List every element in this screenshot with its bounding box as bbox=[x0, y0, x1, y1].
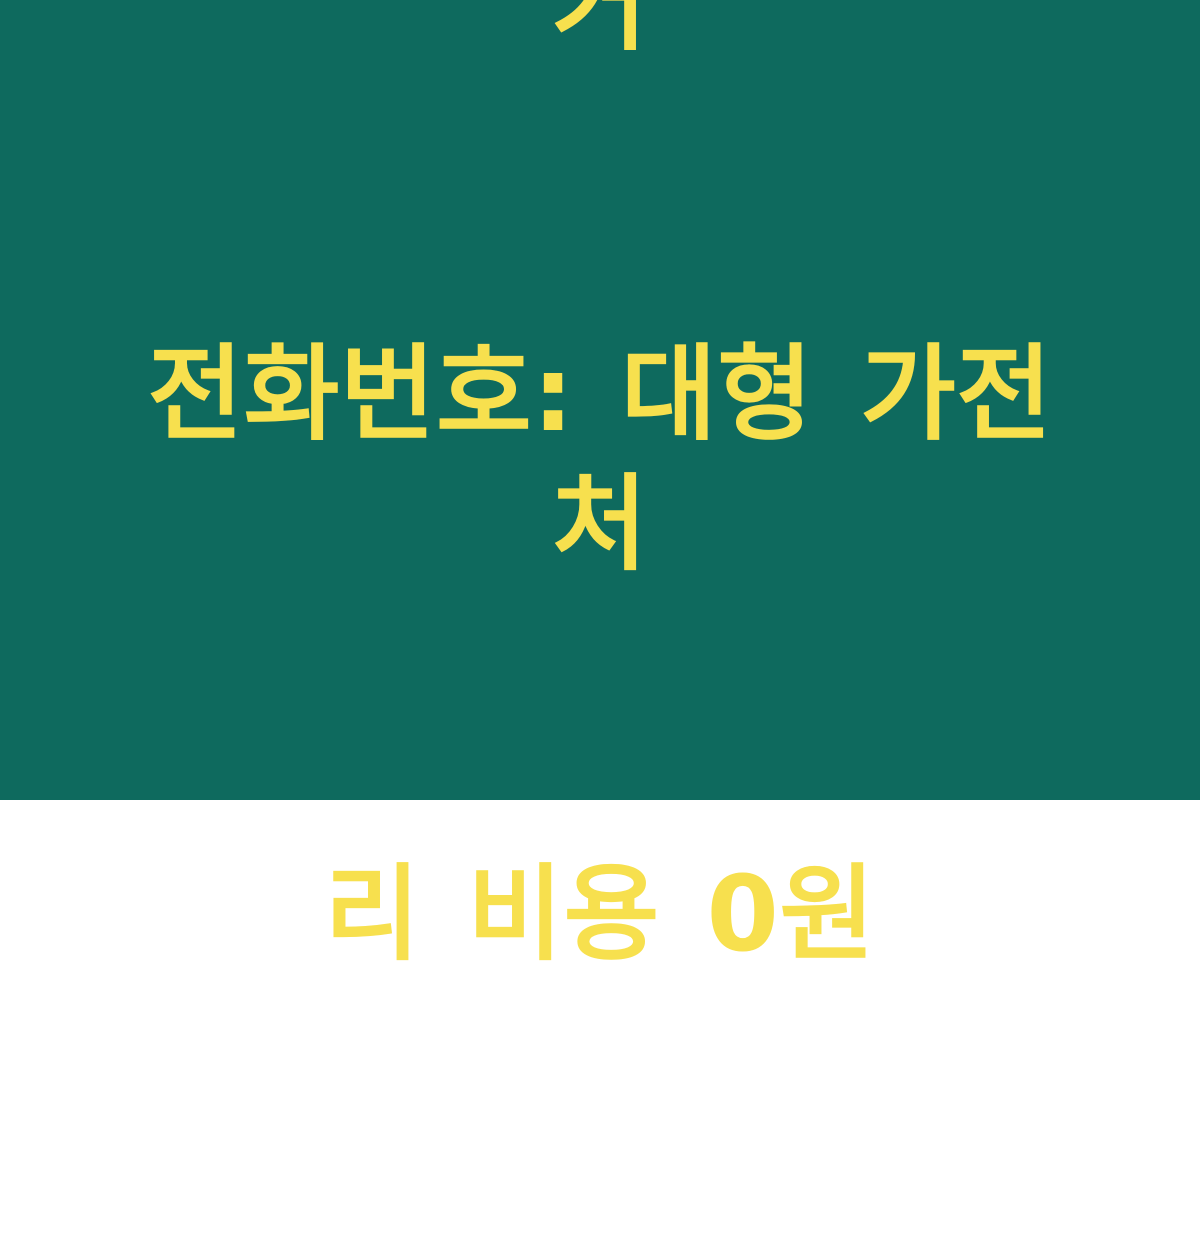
headline-line-1: 노원구 폐가전 무료수거 bbox=[95, 0, 1105, 69]
headline-block: 노원구 폐가전 무료수거 전화번호: 대형 가전 처 리 비용 0원 bbox=[95, 0, 1105, 1239]
headline-line-3: 리 비용 0원 bbox=[95, 849, 1105, 979]
banner-canvas: 노원구 폐가전 무료수거 전화번호: 대형 가전 처 리 비용 0원 bbox=[0, 0, 1200, 800]
headline-line-2: 전화번호: 대형 가전 처 bbox=[95, 329, 1105, 589]
banner-headline: 노원구 폐가전 무료수거 전화번호: 대형 가전 처 리 비용 0원 bbox=[95, 0, 1105, 1239]
